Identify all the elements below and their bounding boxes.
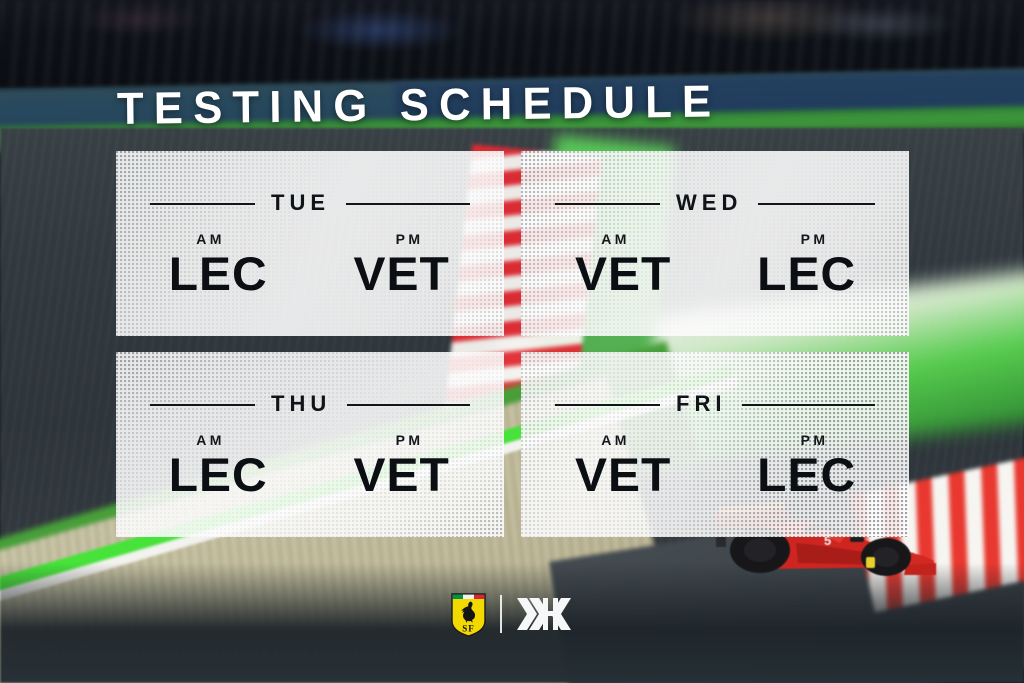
am-driver-code: LEC bbox=[148, 450, 322, 499]
rule-right bbox=[347, 404, 470, 406]
schedule-card-tue[interactable]: TUE AM PM LEC VET bbox=[116, 151, 504, 336]
am-label: AM bbox=[150, 231, 321, 247]
rule-left bbox=[555, 203, 660, 205]
am-driver-code: VET bbox=[553, 450, 727, 499]
day-name: THU bbox=[271, 391, 331, 417]
pm-label: PM bbox=[726, 231, 875, 247]
day-name: WED bbox=[676, 190, 742, 216]
rule-left bbox=[555, 404, 660, 406]
day-header-row: WED bbox=[555, 191, 875, 217]
rule-right bbox=[346, 203, 470, 205]
day-header-row: FRI bbox=[555, 392, 875, 418]
driver-codes-row: LEC VET bbox=[150, 249, 470, 298]
logo-divider bbox=[500, 595, 502, 633]
pm-driver-code: VET bbox=[320, 450, 472, 499]
schedule-grid: TUE AM PM LEC VET WED AM PM bbox=[116, 151, 909, 537]
schedule-card-fri[interactable]: FRI AM PM VET LEC bbox=[521, 352, 909, 537]
am-label: AM bbox=[555, 432, 726, 448]
am-driver-code: VET bbox=[553, 249, 727, 298]
pm-label: PM bbox=[321, 432, 470, 448]
am-label: AM bbox=[555, 231, 726, 247]
mission-winnow-icon bbox=[515, 594, 575, 634]
rule-right bbox=[742, 404, 875, 406]
day-name: TUE bbox=[271, 190, 330, 216]
ferrari-shield-icon: SF bbox=[450, 591, 487, 637]
session-labels-row: AM PM bbox=[555, 432, 875, 448]
svg-text:SF: SF bbox=[462, 624, 475, 634]
am-driver-code: LEC bbox=[148, 249, 322, 298]
session-labels-row: AM PM bbox=[150, 432, 470, 448]
day-header-row: THU bbox=[150, 392, 470, 418]
driver-codes-row: VET LEC bbox=[555, 450, 875, 499]
pm-label: PM bbox=[726, 432, 875, 448]
driver-codes-row: LEC VET bbox=[150, 450, 470, 499]
day-header-row: TUE bbox=[150, 191, 470, 217]
page-title: TESTING SCHEDULE bbox=[117, 78, 722, 131]
session-labels-row: AM PM bbox=[555, 231, 875, 247]
rule-left bbox=[150, 404, 255, 406]
pm-label: PM bbox=[321, 231, 470, 247]
rule-right bbox=[758, 203, 875, 205]
driver-codes-row: VET LEC bbox=[555, 249, 875, 298]
pm-driver-code: LEC bbox=[725, 450, 877, 499]
schedule-card-thu[interactable]: THU AM PM LEC VET bbox=[116, 352, 504, 537]
footer-logos: SF bbox=[0, 591, 1024, 637]
schedule-card-wed[interactable]: WED AM PM VET LEC bbox=[521, 151, 909, 336]
rule-left bbox=[150, 203, 255, 205]
am-label: AM bbox=[150, 432, 321, 448]
pm-driver-code: VET bbox=[320, 249, 472, 298]
day-name: FRI bbox=[676, 391, 726, 417]
session-labels-row: AM PM bbox=[150, 231, 470, 247]
pm-driver-code: LEC bbox=[725, 249, 877, 298]
